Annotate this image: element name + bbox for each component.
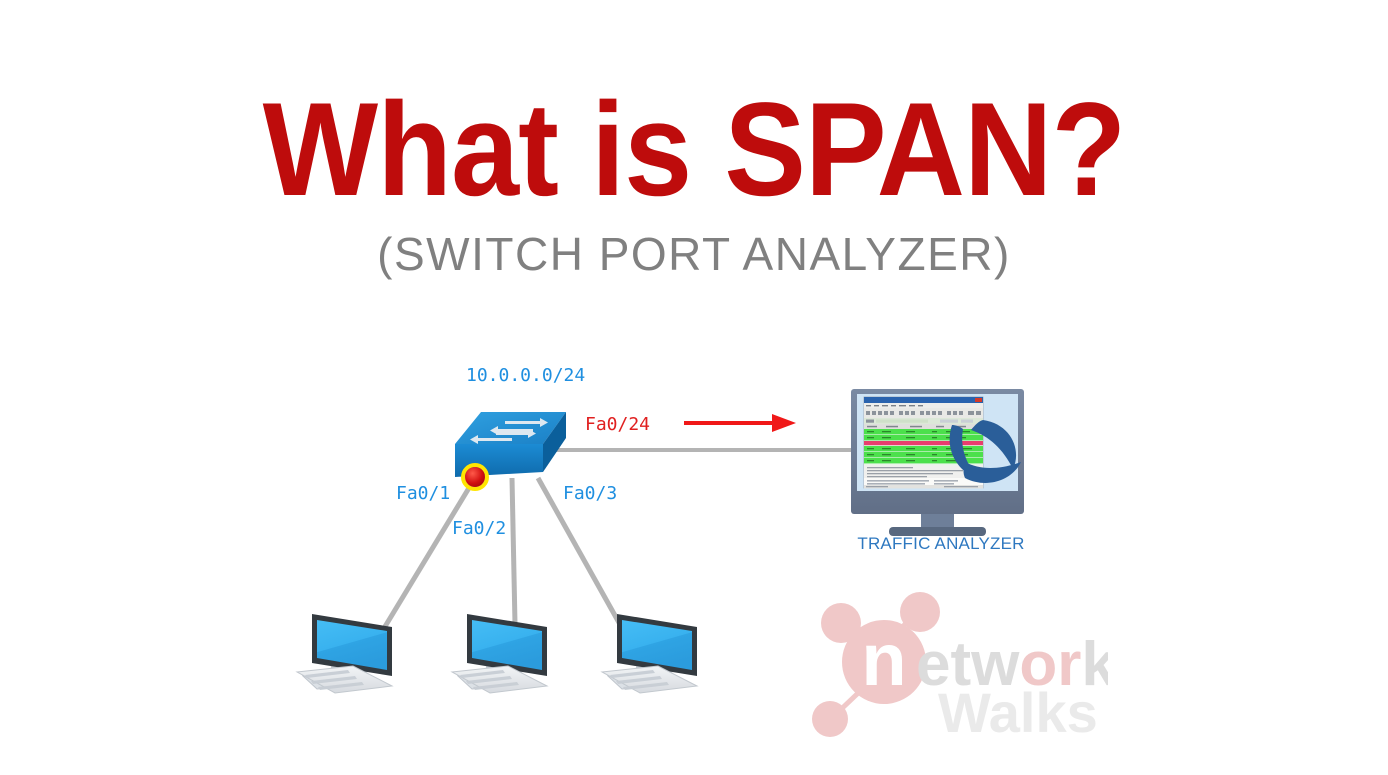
port-label-fa0-3: Fa0/3 — [563, 483, 617, 504]
subnet-label: 10.0.0.0/24 — [466, 365, 585, 386]
port-label-fa0-1: Fa0/1 — [396, 483, 450, 504]
brand-watermark: n etwork Walks — [808, 592, 1108, 737]
traffic-analyzer-layer — [0, 0, 1388, 775]
watermark-brand-secondary: Walks — [938, 681, 1098, 737]
network-diagram: 10.0.0.0/24 Fa0/24 Fa0/1 Fa0/2 Fa0/3 TRA… — [0, 0, 1388, 775]
port-label-fa0-2: Fa0/2 — [452, 518, 506, 539]
traffic-analyzer[interactable] — [851, 389, 1024, 536]
traffic-analyzer-caption: TRAFFIC ANALYZER — [856, 534, 1026, 554]
port-label-fa0-24: Fa0/24 — [585, 414, 650, 435]
capture-window-titlebar — [864, 397, 983, 403]
watermark-n-letter: n — [861, 618, 906, 701]
